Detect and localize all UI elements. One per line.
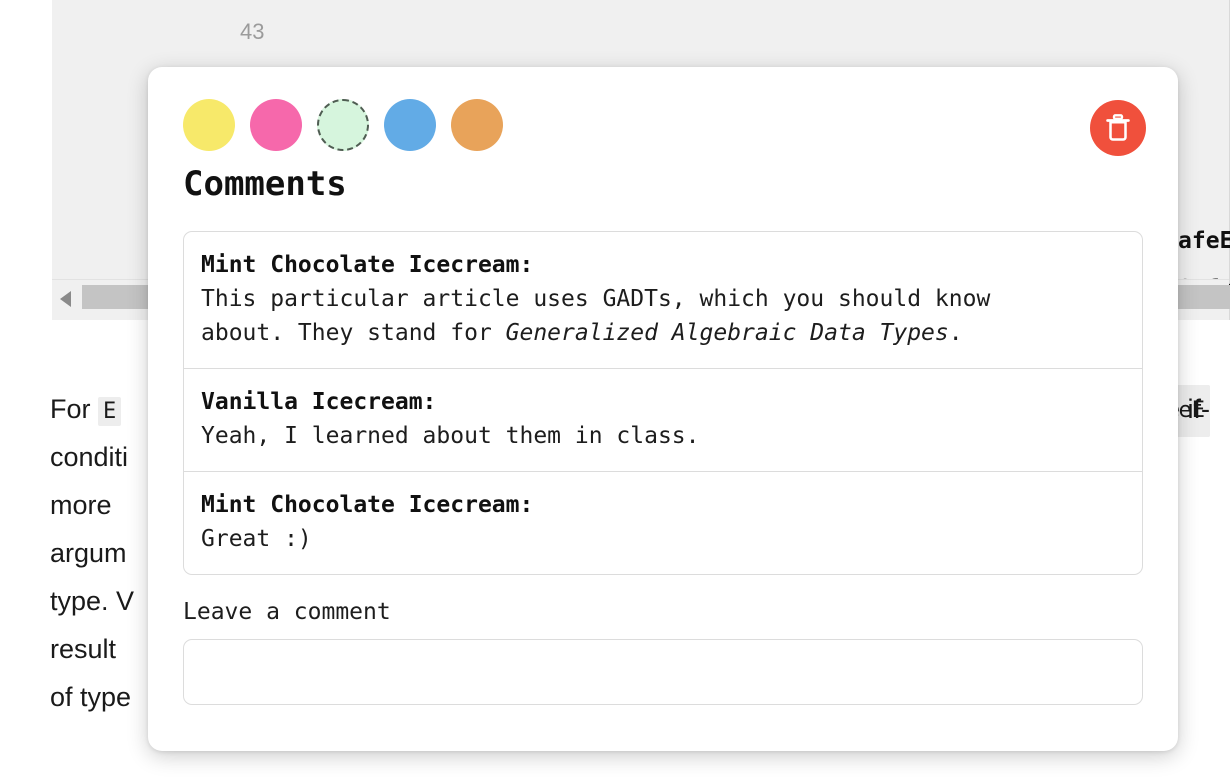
code-line: 43 — [52, 0, 1229, 8]
list-item: Mint Chocolate Icecream: This particular… — [184, 232, 1142, 369]
comment-author: Mint Chocolate Icecream: — [201, 248, 1125, 282]
code-fragment-right: afeE — [1178, 228, 1230, 254]
article-text: of type — [50, 682, 131, 712]
comments-list: Mint Chocolate Icecream: This particular… — [183, 231, 1143, 575]
trash-icon — [1104, 113, 1132, 143]
avatar-blue[interactable] — [384, 99, 436, 151]
comments-dialog: Comments Mint Chocolate Icecream: This p… — [148, 67, 1178, 751]
avatar-picker[interactable] — [183, 99, 503, 151]
avatar-yellow[interactable] — [183, 99, 235, 151]
article-text: conditi — [50, 442, 128, 472]
article-text: For — [50, 394, 98, 424]
article-text: result — [50, 634, 116, 664]
comment-author: Mint Chocolate Icecream: — [201, 488, 1125, 522]
article-text: type. V — [50, 586, 134, 616]
avatar-orange[interactable] — [451, 99, 503, 151]
page-title: Comments — [148, 163, 1178, 205]
comment-body-tail: . — [949, 320, 963, 346]
scroll-left-arrow-icon[interactable] — [60, 291, 71, 307]
article-text: more — [50, 490, 112, 520]
dialog-header — [148, 67, 1178, 163]
code-line: 44 data SafeExpr : ExprType -> Type wher… — [52, 8, 1229, 56]
avatar-pink[interactable] — [250, 99, 302, 151]
article-text: argum — [50, 538, 127, 568]
comment-body: Yeah, I learned about them in class. — [201, 419, 1125, 453]
comment-body-text: Yeah, I learned about them in class. — [201, 423, 700, 449]
comment-body-text: Great :) — [201, 526, 312, 552]
avatar-mint-selected[interactable] — [317, 99, 369, 151]
inline-code-chip: E — [98, 397, 121, 426]
list-item: Mint Chocolate Icecream: Great :) — [184, 472, 1142, 574]
comment-body-italic: Generalized Algebraic Data Types — [506, 320, 949, 346]
list-item: Vanilla Icecream: Yeah, I learned about … — [184, 369, 1142, 472]
comment-input[interactable] — [183, 639, 1143, 705]
comment-body: Great :) — [201, 522, 1125, 556]
delete-button[interactable] — [1090, 100, 1146, 156]
screen: 43 44 data SafeExpr : ExprType -> Type w… — [0, 0, 1230, 781]
leave-comment-label: Leave a comment — [183, 597, 1178, 627]
comment-body: This particular article uses GADTs, whic… — [201, 282, 1125, 350]
comment-author: Vanilla Icecream: — [201, 385, 1125, 419]
